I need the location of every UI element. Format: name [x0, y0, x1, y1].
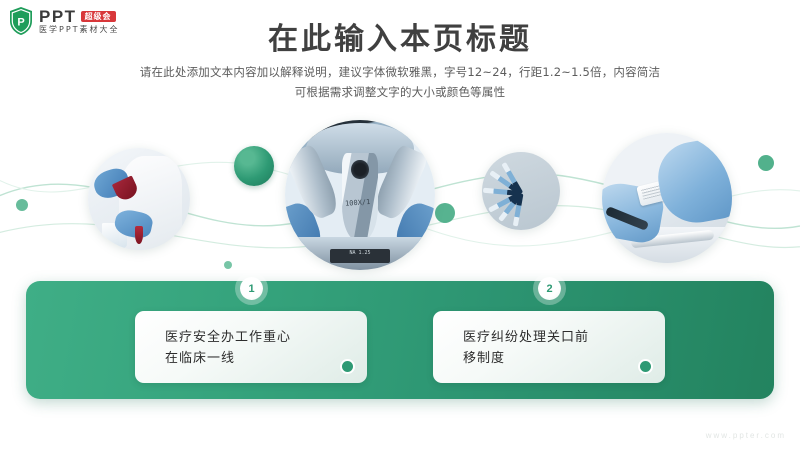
footer-watermark: www.ppter.com [706, 431, 786, 440]
content-card-2[interactable]: 医疗纠纷处理关口前 移制度 [433, 311, 665, 383]
content-card-1-text: 医疗安全办工作重心 在临床一线 [165, 327, 349, 369]
decor-dot-left [16, 199, 28, 211]
card-corner-dot-2 [640, 361, 651, 372]
photo-syringes-radial [482, 152, 560, 230]
item-number-badge-2[interactable]: 2 [538, 277, 561, 300]
decor-sphere-green [234, 146, 274, 186]
page-title: 在此输入本页标题 [0, 14, 800, 58]
subtitle-line-2: 可根据需求调整文字的大小或颜色等属性 [0, 82, 800, 102]
content-card-2-text: 医疗纠纷处理关口前 移制度 [463, 327, 647, 369]
photo-lab-technician-flask [88, 148, 190, 250]
content-card-1-line-1: 医疗安全办工作重心 [165, 327, 349, 348]
decor-dot-mid [224, 261, 232, 269]
microscope-slide-label: NA 1.25 [330, 249, 390, 263]
item-number-badge-1[interactable]: 1 [240, 277, 263, 300]
page-subtitle: 请在此处添加文本内容加以解释说明，建议字体微软雅黑，字号12~24，行距1.2~… [0, 62, 800, 102]
photo-gloved-hands-vial [602, 133, 732, 263]
content-card-2-line-1: 医疗纠纷处理关口前 [463, 327, 647, 348]
decor-dot-center [435, 203, 455, 223]
photo-microscope-objectives: 100X/1 NA 1.25 [285, 120, 435, 270]
card-corner-dot-1 [342, 361, 353, 372]
slide-canvas: P PPT 超级会 医学PPT素材大全 在此输入本页标题 请在此处添加文本内容加… [0, 0, 800, 450]
subtitle-line-1: 请在此处添加文本内容加以解释说明，建议字体微软雅黑，字号12~24，行距1.2~… [0, 62, 800, 82]
content-card-1-line-2: 在临床一线 [165, 348, 349, 369]
decor-dot-right [758, 155, 774, 171]
content-card-1[interactable]: 医疗安全办工作重心 在临床一线 [135, 311, 367, 383]
content-card-2-line-2: 移制度 [463, 348, 647, 369]
